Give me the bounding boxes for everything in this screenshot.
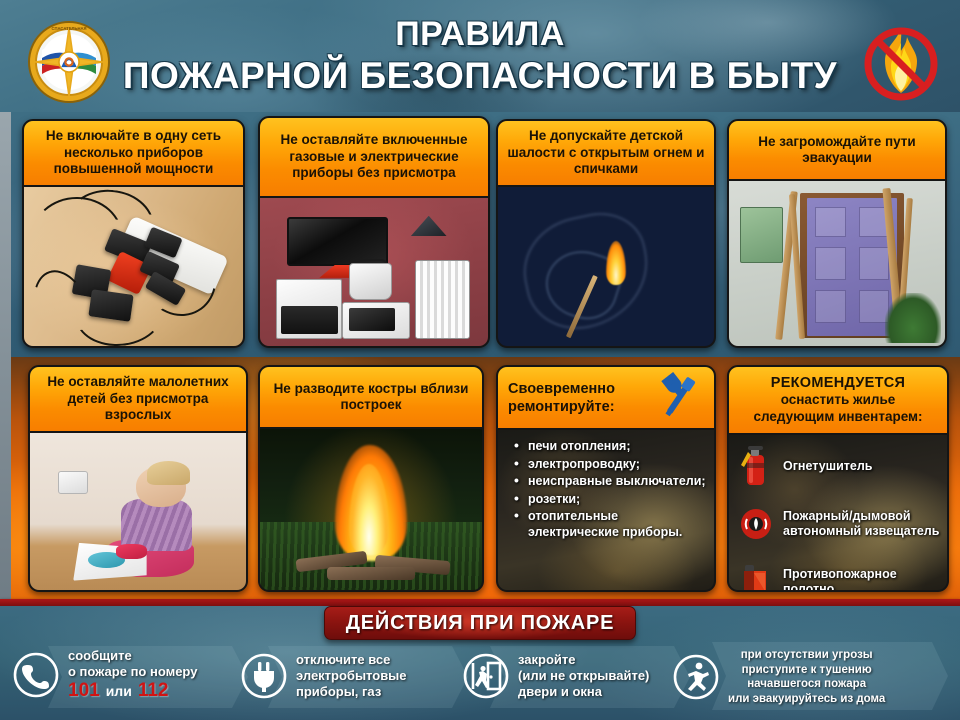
card-title: Не оставляйте включенные газовые и элект… (266, 132, 482, 182)
footer-close-doors: закройте (или не открывайте) двери и окн… (462, 652, 692, 700)
no-open-fire-icon (857, 17, 945, 107)
inventory-title-line-3: следующим инвентарем: (753, 409, 922, 426)
actions-banner: ДЕЙСТВИЯ ПРИ ПОЖАРЕ (324, 606, 636, 640)
footer-line-2: о пожаре по номеру (68, 664, 197, 680)
card-header: Не включайте в одну сеть несколько прибо… (24, 121, 243, 187)
footer-text-block: при отсутствии угрозы приступите к тушен… (728, 648, 885, 706)
card-header: Своевременно ремонтируйте: (498, 367, 714, 430)
card-title: Не оставляйте малолетних детей без присм… (36, 374, 240, 424)
blocked-door-photo (729, 181, 945, 346)
footer-text-block: сообщите о пожаре по номеру 101 или 112 (68, 648, 197, 702)
title-line-2: ПОЖАРНОЙ БЕЗОПАСНОСТИ В БЫТУ (120, 54, 840, 98)
fire-extinguisher-icon (736, 443, 776, 489)
running-person-icon (672, 653, 720, 701)
footer-line-1: закройте (518, 652, 649, 668)
card-title: Не включайте в одну сеть несколько прибо… (30, 128, 237, 178)
fire-blanket-icon (736, 559, 776, 590)
burning-match-photo (498, 187, 714, 346)
inventory-item-label: Пожарный/дымовой автономный извещатель (783, 509, 941, 539)
footer-line-3: начавшегося пожара (728, 677, 885, 692)
inventory-list-area: Огнетушитель Пожарный/дымовой автономный… (729, 435, 947, 590)
card-title: Не допускайте детской шалости с открытым… (504, 128, 708, 178)
footer-line-3: двери и окна (518, 684, 649, 700)
card-header: Не допускайте детской шалости с открытым… (498, 121, 714, 187)
footer-line-2: (или не открывайте) (518, 668, 649, 684)
footer-line-1: сообщите (68, 648, 197, 664)
inventory-item-label: Огнетушитель (783, 459, 872, 474)
inventory-title-line-2: оснастить жилье (781, 392, 896, 409)
emergency-number-101: 101 (68, 680, 100, 702)
phone-icon (12, 651, 60, 699)
footer-line-1: при отсутствии угрозы (728, 648, 885, 663)
home-appliances-photo (260, 198, 488, 346)
emercom-emblem-icon: СПАСАТЕЛЬНАЯ (27, 20, 111, 104)
footer-text-block: закройте (или не открывайте) двери и окн… (518, 652, 649, 700)
list-item: неисправные выключатели; (512, 474, 706, 490)
footer-line-1: отключите все (296, 652, 407, 668)
fire-safety-poster: СПАСАТЕЛЬНАЯ ПРАВИЛА ПОЖАРНОЙ БЕЗОПАСНОС… (0, 0, 960, 720)
svg-text:СПАСАТЕЛЬНАЯ: СПАСАТЕЛЬНАЯ (51, 26, 86, 31)
card-unattended-appliances[interactable]: Не оставляйте включенные газовые и элект… (258, 116, 490, 348)
card-recommended-inventory[interactable]: РЕКОМЕНДУЕТСЯ оснастить жилье следующим … (727, 365, 949, 592)
child-with-iron-photo (30, 433, 246, 590)
card-power-overload[interactable]: Не включайте в одну сеть несколько прибо… (22, 119, 245, 348)
left-rail (0, 112, 11, 602)
card-header: РЕКОМЕНДУЕТСЯ оснастить жилье следующим … (729, 367, 947, 435)
footer-call: сообщите о пожаре по номеру 101 или 112 (12, 648, 242, 702)
list-item: отопительные электрические приборы. (512, 509, 706, 540)
footer-text-block: отключите все электробытовые приборы, га… (296, 652, 407, 700)
card-evacuation-routes[interactable]: Не загромождайте пути эвакуации (727, 119, 947, 348)
footer-line-3: приборы, газ (296, 684, 407, 700)
power-plug-icon (240, 652, 288, 700)
poster-header: СПАСАТЕЛЬНАЯ ПРАВИЛА ПОЖАРНОЙ БЕЗОПАСНОС… (0, 0, 960, 112)
footer-extinguish-evacuate: при отсутствии угрозы приступите к тушен… (672, 648, 958, 706)
repair-list-area: печи отопления; электропроводку; неиспра… (498, 430, 714, 590)
footer-line-4: или эвакуируйтесь из дома (728, 692, 885, 707)
card-header: Не оставляйте малолетних детей без присм… (30, 367, 246, 433)
tools-icon (654, 370, 708, 420)
card-title: Не разводите костры вблизи построек (266, 381, 476, 414)
emergency-number-112: 112 (138, 680, 169, 702)
inventory-title-line-1: РЕКОМЕНДУЕТСЯ (771, 375, 906, 392)
card-header: Не разводите костры вблизи построек (260, 367, 482, 429)
list-item: Огнетушитель (729, 441, 947, 491)
banner-text: ДЕЙСТВИЯ ПРИ ПОЖАРЕ (346, 612, 615, 635)
card-header: Не загромождайте пути эвакуации (729, 121, 945, 181)
list-item: Противопожарное полотно (729, 557, 947, 590)
list-item: электропроводку; (512, 457, 706, 473)
overloaded-power-strip-photo (24, 187, 243, 346)
door-exit-icon (462, 652, 510, 700)
list-item: Пожарный/дымовой автономный извещатель (729, 499, 947, 549)
card-header: Не оставляйте включенные газовые и элект… (260, 118, 488, 198)
card-children-unattended[interactable]: Не оставляйте малолетних детей без присм… (28, 365, 248, 592)
card-no-bonfires[interactable]: Не разводите костры вблизи построек (258, 365, 484, 592)
card-children-fire[interactable]: Не допускайте детской шалости с открытым… (496, 119, 716, 348)
list-item: розетки; (512, 492, 706, 508)
footer-power-off: отключите все электробытовые приборы, га… (240, 652, 470, 700)
footer-line-2: приступите к тушению (728, 663, 885, 678)
card-timely-repair[interactable]: Своевременно ремонтируйте: (496, 365, 716, 592)
poster-title: ПРАВИЛА ПОЖАРНОЙ БЕЗОПАСНОСТИ В БЫТУ (120, 14, 840, 98)
repair-items-list: печи отопления; электропроводку; неиспра… (498, 430, 714, 548)
bonfire-photo (260, 429, 482, 590)
list-item: печи отопления; (512, 439, 706, 455)
inventory-item-label: Противопожарное полотно (783, 567, 941, 590)
red-divider (0, 599, 960, 606)
conjunction: или (106, 683, 132, 699)
smoke-detector-icon (736, 501, 776, 547)
title-line-1: ПРАВИЛА (120, 14, 840, 54)
footer-line-2: электробытовые (296, 668, 407, 684)
card-title: Не загромождайте пути эвакуации (735, 134, 939, 167)
